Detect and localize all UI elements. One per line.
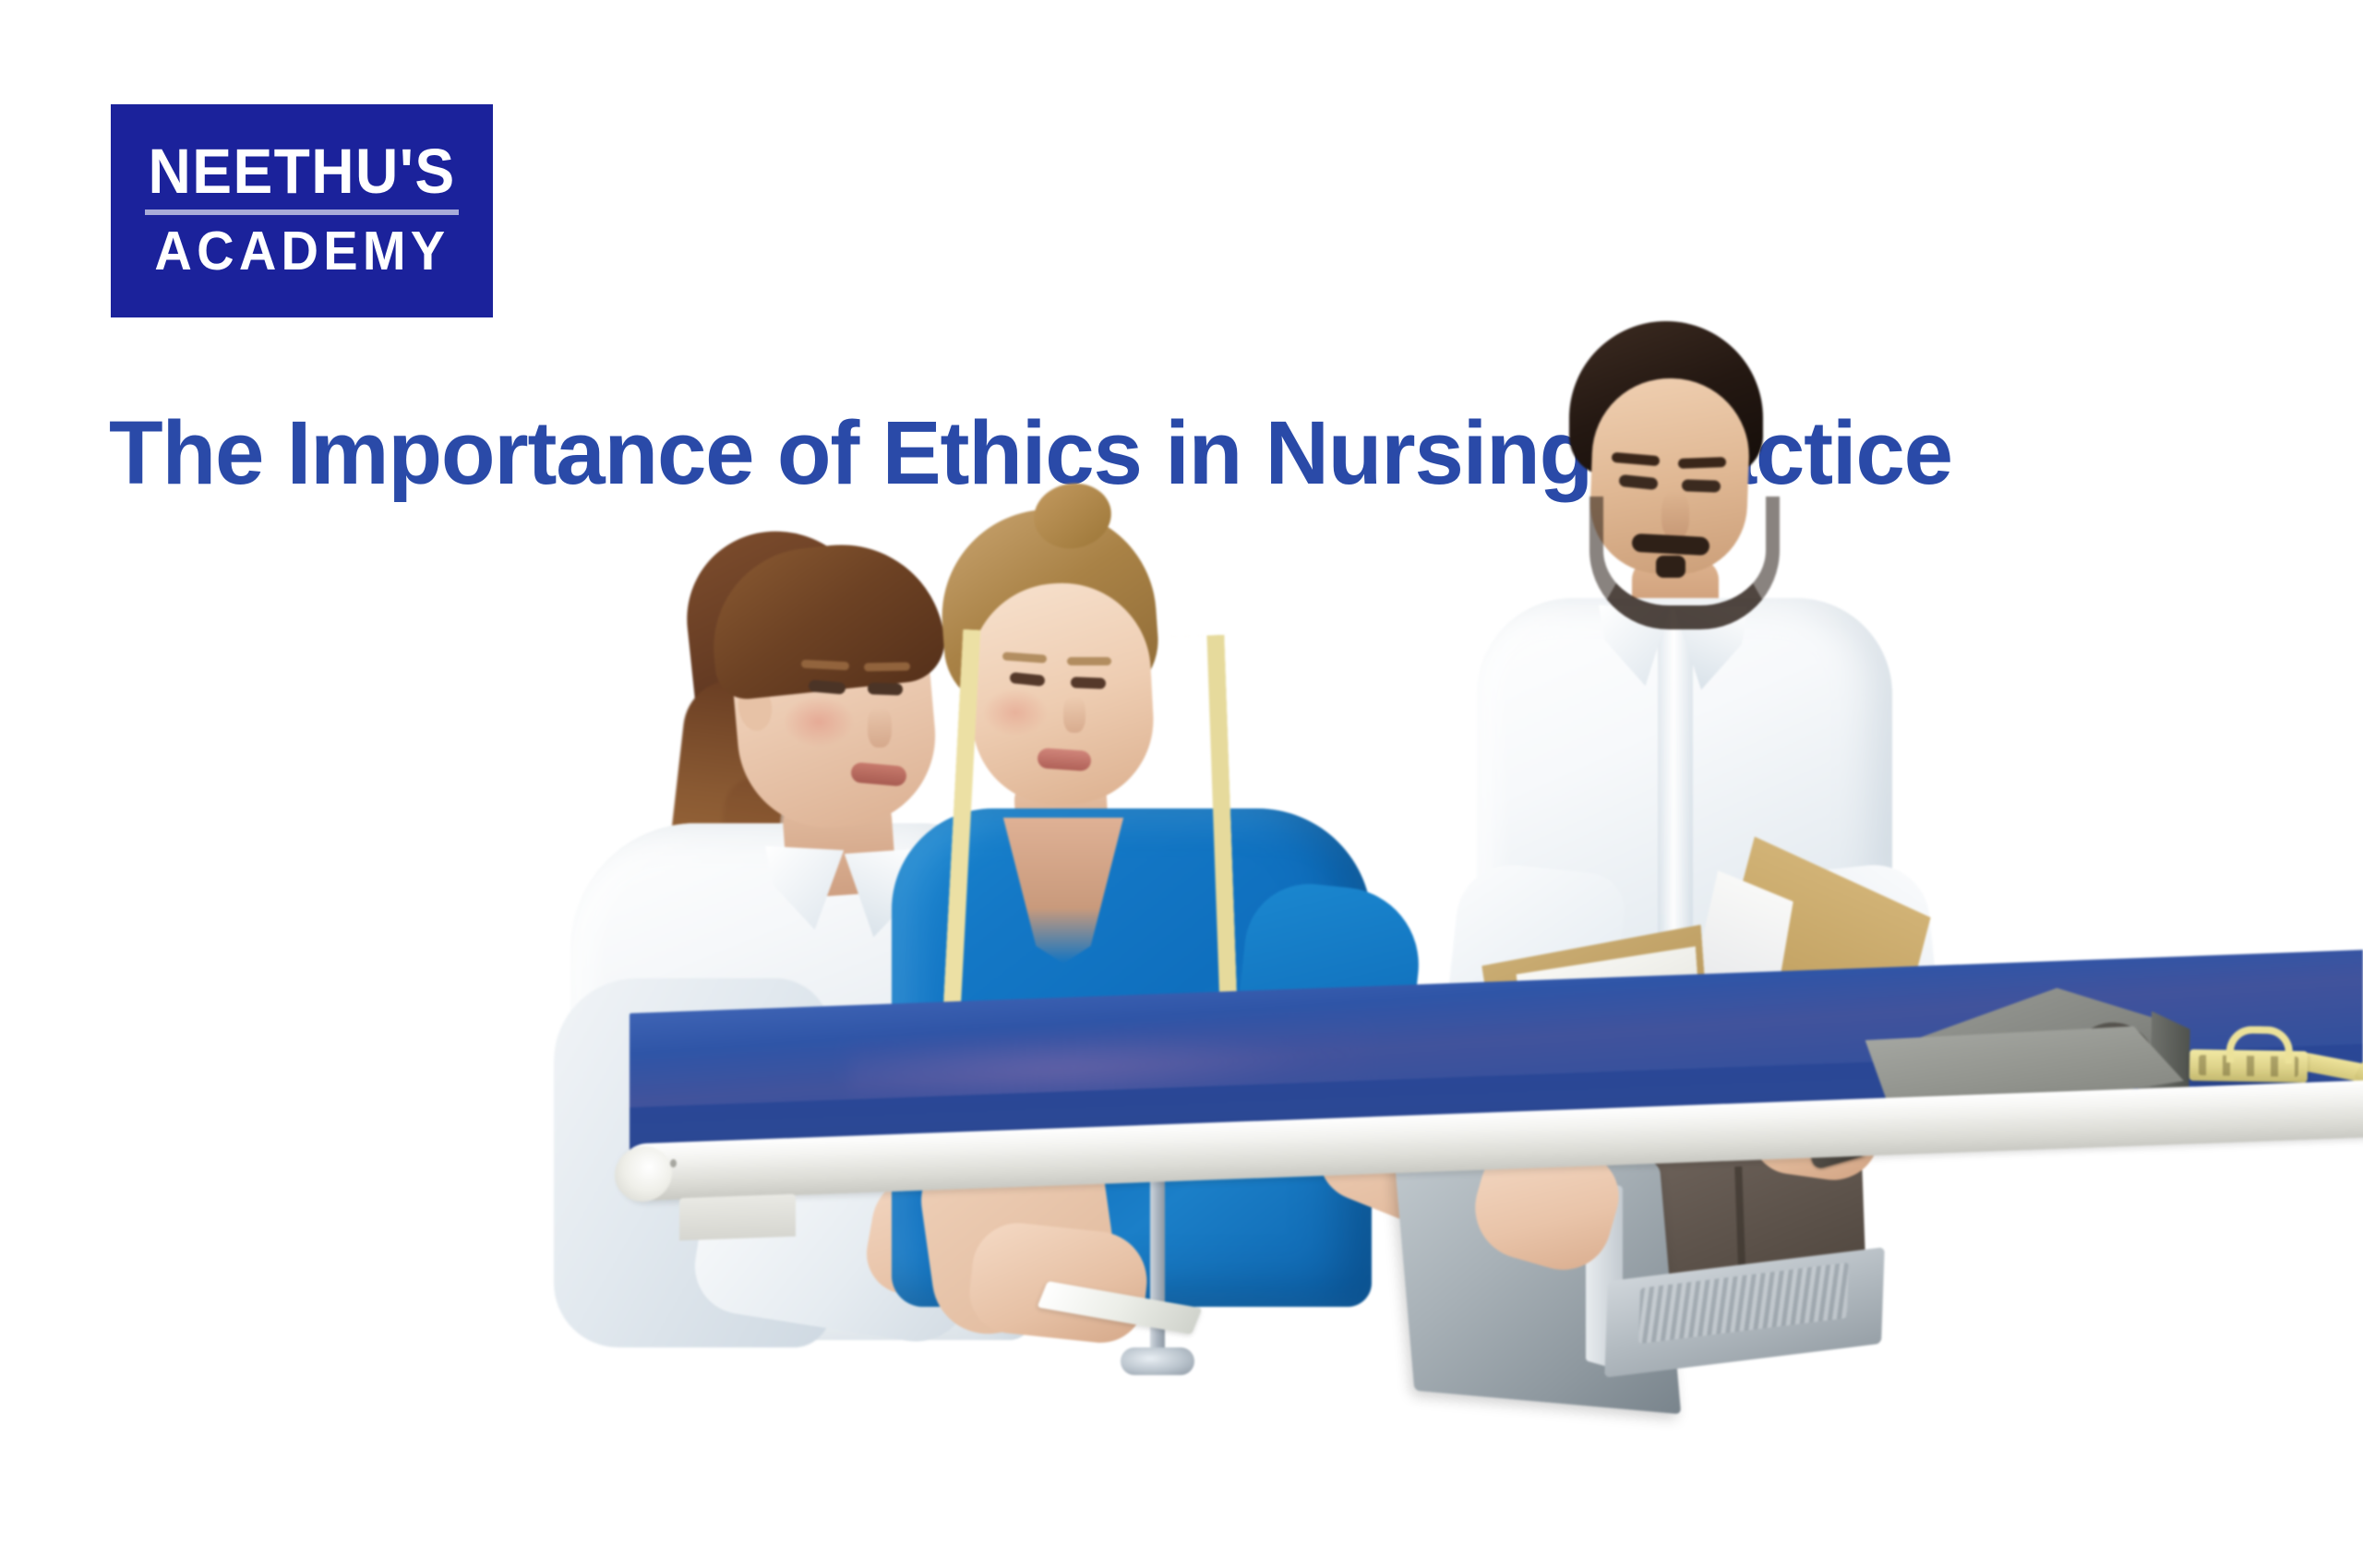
cheek-blush xyxy=(783,696,855,748)
hero-photo xyxy=(554,498,2363,1568)
nose xyxy=(868,707,892,748)
eyebrow-right xyxy=(1678,457,1726,469)
desk-leg xyxy=(679,1194,796,1241)
neethus-academy-logo[interactable]: NEETHU'S ACADEMY xyxy=(111,104,493,317)
eye-right xyxy=(1682,479,1721,492)
banner-canvas: NEETHU'S ACADEMY The Importance of Ethic… xyxy=(0,0,2363,1568)
logo-line-1: NEETHU'S xyxy=(148,141,455,202)
eyebrow-right xyxy=(864,663,910,672)
nose xyxy=(1661,491,1689,539)
soul-patch xyxy=(1656,556,1685,578)
logo-line-2: ACADEMY xyxy=(154,225,450,277)
logo-divider xyxy=(145,209,459,215)
tape-measure-handle xyxy=(2226,1025,2294,1063)
stethoscope-chestpiece xyxy=(1121,1347,1194,1375)
eye-right xyxy=(868,682,903,695)
